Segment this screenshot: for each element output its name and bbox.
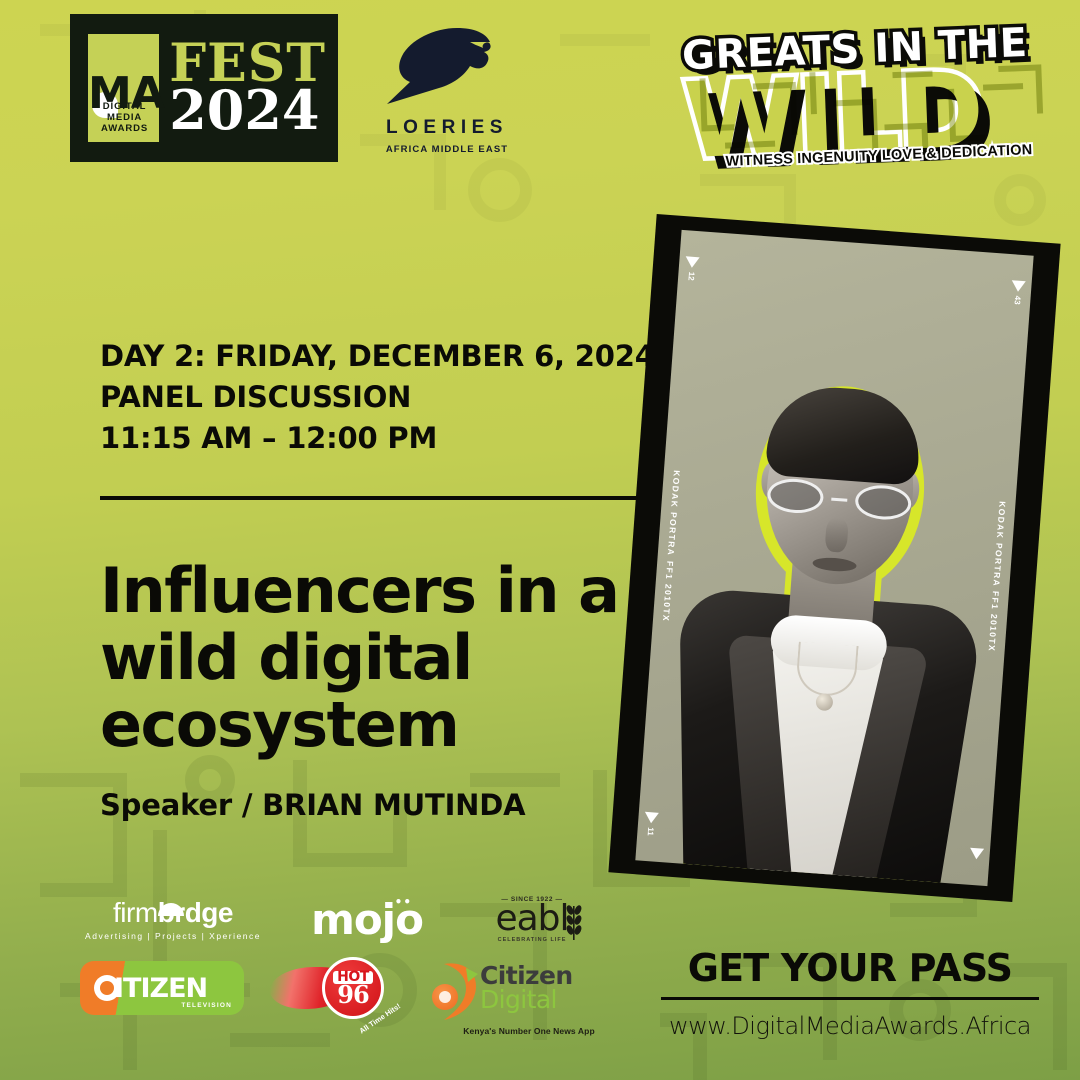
film-triangle-icon (685, 256, 700, 268)
film-marker-bottom-left: 11 (643, 811, 659, 835)
film-marker-top-right: 43 (1010, 280, 1026, 305)
glasses-lens-right (854, 483, 912, 521)
dma-logomark: MA DIGITAL MEDIA AWARDS (88, 34, 159, 142)
event-poster: MA DIGITAL MEDIA AWARDS FEST 2024 LOERIE… (0, 0, 1080, 1080)
film-marker-top-left: 12 (684, 256, 700, 281)
loeries-logo: LOERIES AFRICA MIDDLE EAST (372, 22, 522, 155)
film-code-text: FF1 2010TX (661, 560, 675, 622)
film-triangle-icon (1011, 280, 1026, 292)
film-code-text: FF1 2010TX (987, 590, 1001, 652)
speaker-label: Speaker / (100, 788, 252, 822)
firmbridge-word-light: firm (113, 897, 158, 928)
sponsor-row-two: ITIZEN TELEVISION HOT 96 All Time Hits! … (78, 943, 598, 1023)
bird-icon (372, 22, 522, 108)
sponsor-citizen-digital: Citizen Digital Kenya's Number One News … (426, 964, 596, 1012)
section-divider (100, 496, 680, 500)
session-day: DAY 2: FRIDAY, DECEMBER 6, 2024 (100, 336, 660, 377)
firmbridge-wordmark: firmbrdge (84, 899, 262, 927)
film-brand-text: KODAK PORTRA (666, 470, 682, 557)
dma-fest-logo: MA DIGITAL MEDIA AWARDS FEST 2024 (70, 14, 338, 162)
session-meta: DAY 2: FRIDAY, DECEMBER 6, 2024 PANEL DI… (100, 336, 660, 460)
citizen-tv-wordmark: ITIZEN (114, 973, 207, 1004)
speaker-portrait-illustration (677, 305, 987, 883)
glasses-bridge (831, 497, 847, 501)
session-format: PANEL DISCUSSION (100, 377, 660, 418)
cta-divider (661, 997, 1039, 1000)
film-brand-text: KODAK PORTRA (991, 501, 1007, 588)
cta-title: GET YOUR PASS (660, 946, 1040, 990)
citizen-tv-tagline: TELEVISION (181, 1002, 232, 1009)
film-brand-left: KODAK PORTRA FF1 2010TX (661, 470, 682, 622)
sponsor-citizen-tv: ITIZEN TELEVISION (80, 961, 244, 1015)
firmbridge-word-bold-2: dge (185, 897, 233, 928)
speaker-name: BRIAN MUTINDA (262, 788, 525, 822)
loeries-wordmark: LOERIES (372, 117, 522, 139)
portrait-hair (764, 383, 922, 486)
firmbridge-word-bold: br (158, 899, 185, 927)
wheat-icon (566, 900, 582, 942)
sponsor-hot-96: HOT 96 All Time Hits! (270, 953, 400, 1023)
hot-96-disc: HOT 96 (322, 957, 384, 1019)
sponsor-eabl: — SINCE 1922 — eabl CELEBRATING LIFE (472, 896, 592, 943)
film-frame-number-right: 43 (1013, 295, 1023, 305)
session-headline: Influencers in a wild digital ecosystem (100, 558, 660, 759)
mojo-diaeresis-icon: •• (395, 896, 412, 908)
fest-wordmark: FEST 2024 (169, 42, 326, 133)
fest-year: 2024 (169, 87, 326, 133)
speaker-line: Speaker / BRIAN MUTINDA (100, 788, 660, 822)
call-to-action[interactable]: GET YOUR PASS www.DigitalMediaAwards.Afr… (660, 946, 1040, 1040)
dma-mark-subtitle: DIGITAL MEDIA AWARDS (92, 101, 157, 134)
speaker-photo-film-frame: 12 KODAK PORTRA FF1 2010TX 11 43 KODAK P… (608, 214, 1060, 902)
session-time: 11:15 AM – 12:00 PM (100, 418, 660, 459)
loeries-subtitle: AFRICA MIDDLE EAST (372, 144, 522, 155)
citizen-digital-tagline: Kenya's Number One News App (434, 1026, 624, 1036)
film-brand-right: KODAK PORTRA FF1 2010TX (987, 501, 1008, 653)
film-triangle-icon (644, 811, 659, 823)
sponsor-firmbridge: firmbrdge Advertising | Projects | Xperi… (84, 899, 262, 941)
citizen-digital-line-two: Digital (480, 988, 596, 1013)
sponsor-mojo: •• mojo (302, 899, 432, 941)
glasses-lens-left (766, 477, 824, 515)
greats-in-the-wild-badge: GREATS IN THE WILD WITNESS INGENUITY LOV… (672, 16, 1068, 184)
cta-url[interactable]: www.DigitalMediaAwards.Africa (660, 1012, 1040, 1040)
firmbridge-tagline: Advertising | Projects | Xperience (84, 931, 262, 941)
film-frame-number-top: 12 (686, 271, 696, 281)
sponsor-row-one: firmbrdge Advertising | Projects | Xperi… (78, 896, 598, 943)
film-triangle-icon (969, 848, 984, 860)
film-frame-number-bottom: 11 (646, 826, 656, 835)
film-marker-bottom-right (969, 848, 984, 860)
hot-96-number: 96 (337, 984, 368, 1007)
speaker-photo: 12 KODAK PORTRA FF1 2010TX 11 43 KODAK P… (635, 230, 1033, 886)
sponsor-logos: firmbrdge Advertising | Projects | Xperi… (78, 896, 598, 1023)
